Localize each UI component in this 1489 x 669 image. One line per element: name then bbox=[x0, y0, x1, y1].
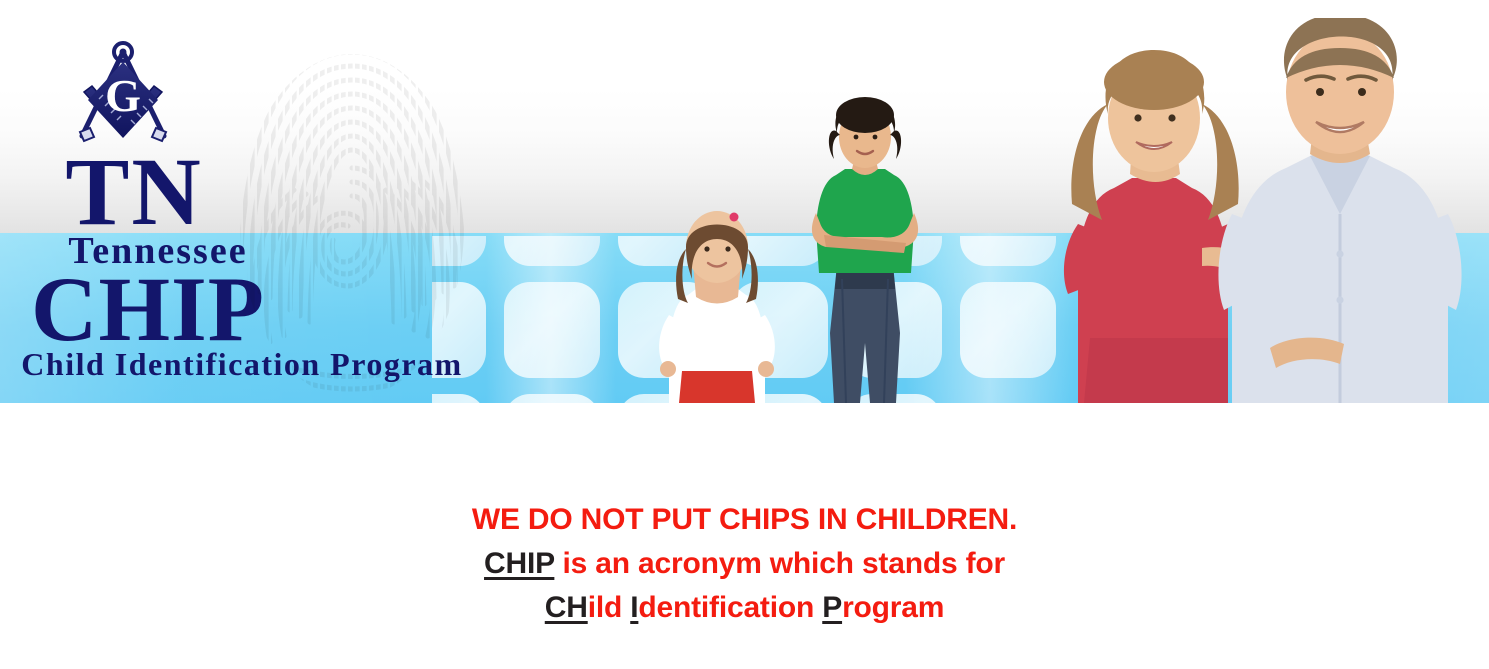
masonic-square-compasses-icon: G bbox=[68, 36, 178, 151]
message-line-1: WE DO NOT PUT CHIPS IN CHILDREN. bbox=[0, 498, 1489, 542]
person-girl-white-shirt bbox=[642, 203, 792, 403]
chip-message-block: WE DO NOT PUT CHIPS IN CHILDREN. CHIP is… bbox=[0, 498, 1489, 630]
message-line-3: CHild Identification Program bbox=[0, 586, 1489, 630]
fingerprint-icon bbox=[236, 30, 468, 403]
person-woman-green-shirt bbox=[790, 93, 940, 403]
message-line-1-text: WE DO NOT PUT CHIPS IN CHILDREN. bbox=[472, 503, 1017, 536]
expansion-p-emphasis: P bbox=[822, 591, 842, 624]
message-line-2: CHIP is an acronym which stands for bbox=[0, 542, 1489, 586]
emblem-letter-g: G bbox=[105, 70, 141, 121]
person-man-blue-shirt bbox=[1210, 18, 1470, 403]
expansion-rogram: rogram bbox=[842, 591, 944, 624]
site-banner: G TN Tennessee CHIP Child Identification… bbox=[0, 0, 1489, 403]
chip-acronym-emphasis: CHIP bbox=[484, 547, 554, 580]
expansion-dentification: dentification bbox=[638, 591, 822, 624]
message-line-2-rest: is an acronym which stands for bbox=[554, 547, 1005, 580]
expansion-ch-emphasis: CH bbox=[545, 591, 588, 624]
expansion-ild: ild bbox=[588, 591, 631, 624]
